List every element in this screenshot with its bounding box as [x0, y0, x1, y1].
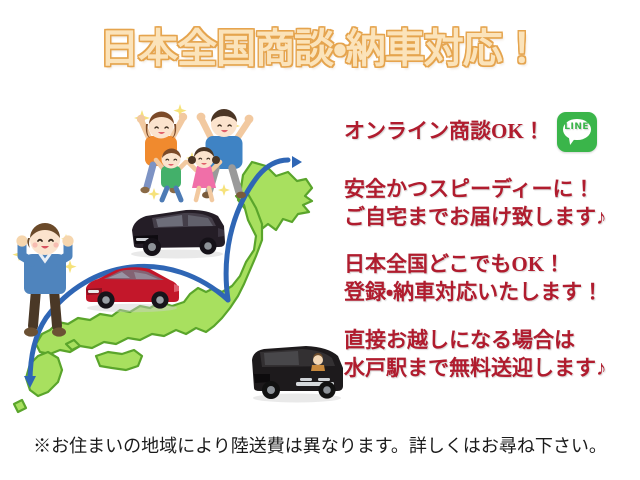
copy-block-online: オンライン商談OK！ LINE: [344, 112, 640, 152]
copy-block-pickup: 直接お越しになる場合は 水戸駅まで無料送迎します♪: [344, 327, 640, 382]
poster-canvas: 日本全国商談・納車対応！: [0, 0, 640, 480]
copy-column: オンライン商談OK！ LINE 安全かつスピーディーに！ ご自宅までお届け致しま…: [344, 112, 640, 382]
happy-family-illustration: [120, 96, 262, 204]
black-van: [244, 338, 350, 404]
copy-pickup-line1: 直接お越しになる場合は: [344, 327, 640, 355]
copy-nationwide-line1: 日本全国どこでもOK！: [344, 251, 640, 279]
artwork-stage: [0, 0, 340, 430]
line-wordmark: LINE: [557, 122, 597, 134]
arrowhead-hokkaido: [292, 156, 302, 168]
van-driver: [313, 355, 323, 365]
copy-nationwide-line2: 登録・納車対応いたします！: [344, 279, 640, 307]
line-app-icon[interactable]: LINE: [557, 112, 597, 152]
copy-online-line1: オンライン商談OK！: [344, 118, 545, 146]
footnote-disclaimer: ※お住まいの地域により陸送費は異なります。詳しくはお尋ね下さい。: [0, 432, 640, 458]
copy-delivery-line1: 安全かつスピーディーに！: [344, 176, 640, 204]
black-minivan: [122, 202, 232, 260]
salesman-character: [10, 216, 80, 344]
copy-block-nationwide: 日本全国どこでもOK！ 登録・納車対応いたします！: [344, 251, 640, 306]
copy-delivery-line2: ご自宅までお届け致します♪: [344, 204, 640, 232]
copy-pickup-line2: 水戸駅まで無料送迎します♪: [344, 355, 640, 383]
copy-block-delivery: 安全かつスピーディーに！ ご自宅までお届け致します♪: [344, 176, 640, 231]
red-sedan: [78, 258, 186, 314]
